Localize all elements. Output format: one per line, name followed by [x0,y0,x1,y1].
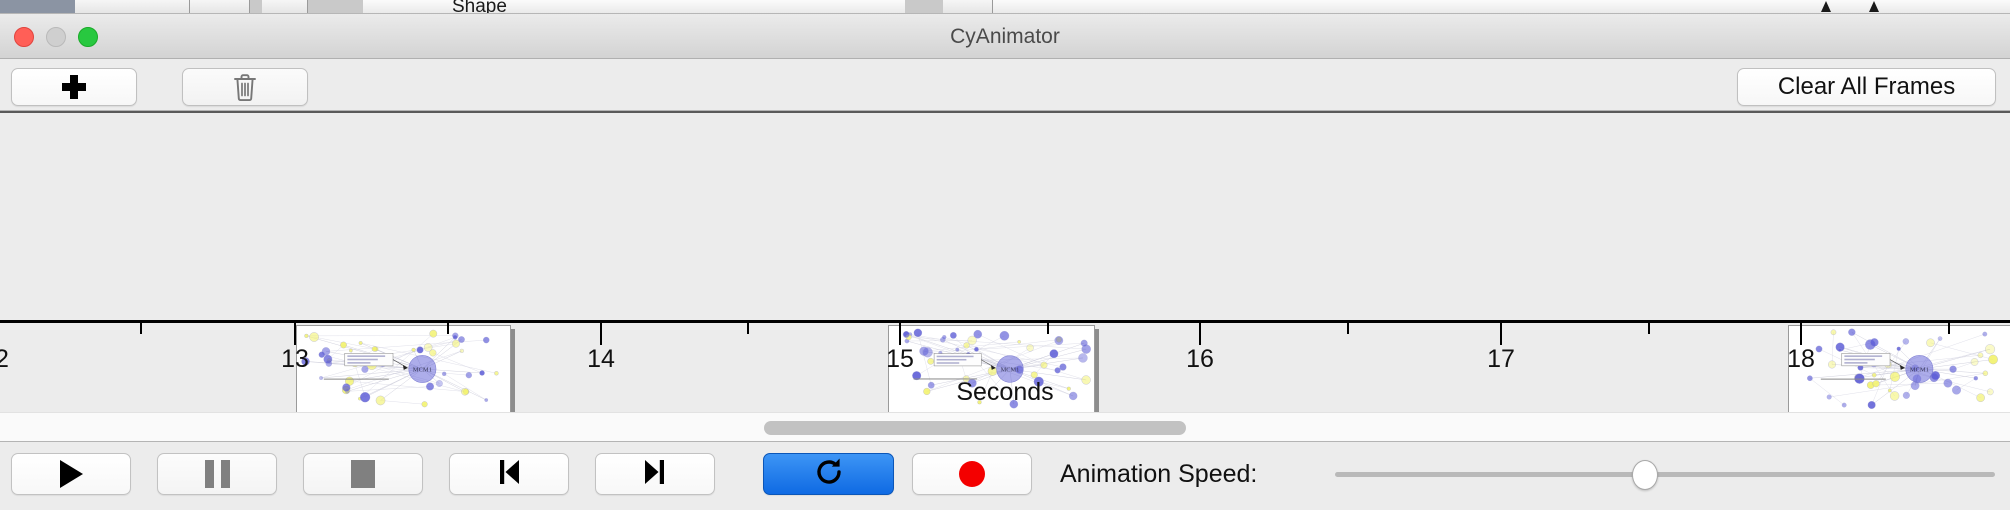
ruler-tick-label: 12 [0,345,9,374]
ruler-tick-major [600,323,602,345]
background-block [250,0,262,14]
next-frame-button[interactable] [595,453,715,495]
axis-label-seconds: Seconds [0,378,2010,407]
ruler-tick-minor [1047,323,1049,334]
clear-all-frames-label: Clear All Frames [1778,73,1955,101]
background-triangle-icon [1821,1,1831,12]
ruler-tick-minor [747,323,749,334]
background-window-titlebar [0,0,75,14]
record-button[interactable] [912,453,1032,495]
previous-frame-button[interactable] [449,453,569,495]
ruler-tick-major [1199,323,1201,345]
animation-speed-slider[interactable] [1335,453,1995,495]
ruler-tick-label: 17 [1487,345,1515,374]
ruler-tick-label: 13 [281,345,309,374]
pause-button[interactable] [157,453,277,495]
slider-thumb[interactable] [1632,460,1658,490]
play-icon [60,460,83,488]
background-block [905,0,943,14]
horizontal-scrollbar[interactable] [0,412,2010,442]
ruler-tick-minor [1948,323,1950,334]
cyanimator-window: Shape CyAnimator Cl [0,0,2010,510]
stop-icon [351,460,375,488]
ruler-tick-label: 14 [587,345,615,374]
ruler-tick-major [899,323,901,345]
timeline-panel[interactable]: MCM1MCM1MCM1 12131415161718 Seconds [0,111,2010,412]
ruler-tick-major [1500,323,1502,345]
title-bar: CyAnimator [0,14,2010,59]
toolbar: Clear All Frames [0,59,2010,111]
ruler-tick-label: 16 [1186,345,1214,374]
ruler-baseline [0,320,2010,323]
background-triangle-icon [1869,1,1879,12]
trash-icon [232,72,258,102]
add-frame-button[interactable] [11,68,137,106]
ruler-tick-minor [1648,323,1650,334]
background-window-strip: Shape [0,0,2010,14]
pause-icon [205,460,230,488]
ruler-tick-label: 18 [1787,345,1815,374]
timeline-ruler: 12131415161718 Seconds [0,320,2010,412]
play-button[interactable] [11,453,131,495]
background-segment [943,0,993,14]
skip-forward-icon [640,457,670,492]
ruler-tick-minor [447,323,449,334]
plus-icon [61,74,87,100]
background-segment [190,0,250,14]
background-window-label: Shape [452,0,507,14]
loop-icon [813,456,845,493]
window-title: CyAnimator [0,14,2010,59]
animation-speed-label: Animation Speed: [1060,453,1257,495]
ruler-tick-major [1800,323,1802,345]
ruler-tick-major [294,323,296,345]
playback-control-bar: Animation Speed: [0,443,2010,510]
background-segment [75,0,190,14]
ruler-tick-minor [1347,323,1349,334]
scrollbar-thumb[interactable] [764,421,1186,435]
slider-track [1335,472,1995,477]
background-segment [262,0,308,14]
record-icon [959,461,985,487]
skip-backward-icon [494,457,524,492]
ruler-tick-label: 15 [886,345,914,374]
background-block [308,0,363,14]
delete-frame-button[interactable] [182,68,308,106]
stop-button[interactable] [303,453,423,495]
ruler-tick-minor [140,323,142,334]
loop-button[interactable] [763,453,894,495]
clear-all-frames-button[interactable]: Clear All Frames [1737,68,1996,106]
